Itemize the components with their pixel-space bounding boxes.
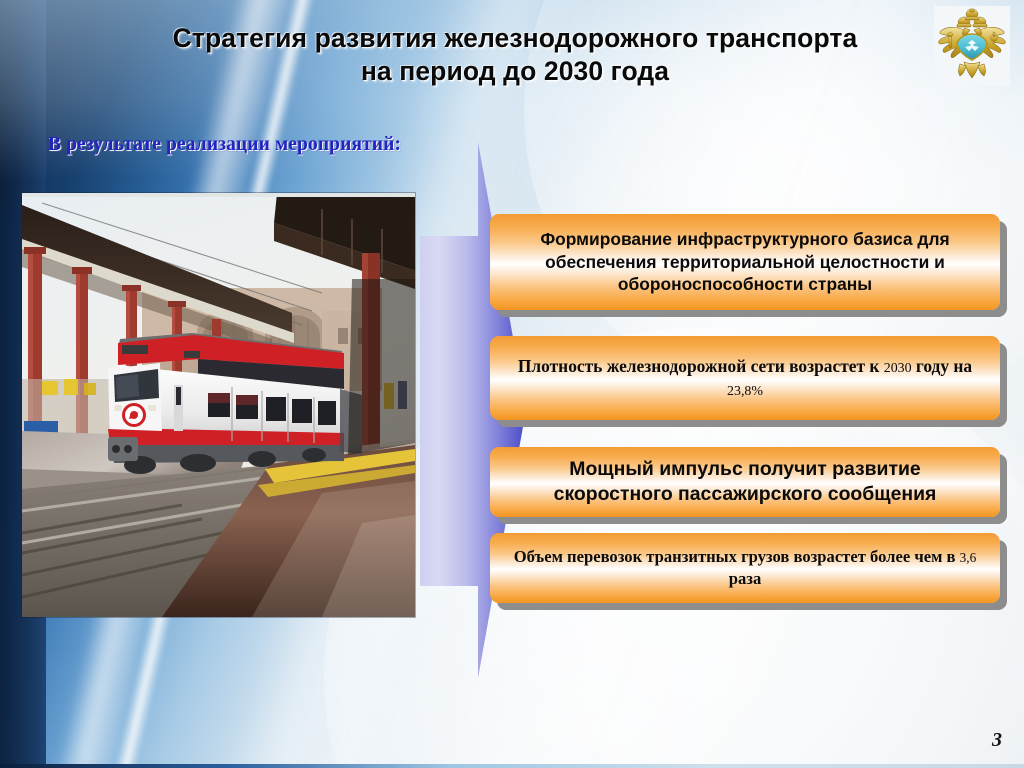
- result-box-2[interactable]: Плотность железнодорожной сети возрастет…: [490, 336, 1000, 420]
- result-box-4-text: Объем перевозок транзитных грузов возрас…: [490, 546, 1000, 590]
- section-subtitle: В результате реализации мероприятий:: [48, 134, 401, 156]
- result-box-4-middle: раза: [729, 569, 762, 588]
- coat-of-arms-icon: [934, 6, 1010, 86]
- train-station-photo: [22, 193, 415, 617]
- result-box-1-text: Формирование инфраструктурного базиса дл…: [490, 228, 1000, 296]
- slide-canvas: Стратегия развития железнодорожного тран…: [0, 0, 1024, 768]
- result-box-2-text: Плотность железнодорожной сети возрастет…: [490, 355, 1000, 402]
- result-box-2-percent: 23,8%: [727, 384, 763, 399]
- result-box-4[interactable]: Объем перевозок транзитных грузов возрас…: [490, 533, 1000, 603]
- bottom-edge-line: [0, 764, 1024, 768]
- result-box-2-prefix: Плотность железнодорожной сети возрастет…: [518, 356, 884, 376]
- result-box-3[interactable]: Мощный импульс получит развитие скоростн…: [490, 447, 1000, 517]
- result-box-2-middle: году на: [912, 356, 973, 376]
- result-box-1[interactable]: Формирование инфраструктурного базиса дл…: [490, 214, 1000, 310]
- result-box-4-multiplier: 3,6: [960, 550, 977, 565]
- slide-title: Стратегия развития железнодорожного тран…: [120, 22, 910, 89]
- slide-number: 3: [992, 729, 1002, 752]
- result-box-3-text: Мощный импульс получит развитие скоростн…: [490, 457, 1000, 507]
- result-box-4-prefix: Объем перевозок транзитных грузов возрас…: [514, 547, 960, 566]
- result-box-2-year: 2030: [884, 361, 912, 376]
